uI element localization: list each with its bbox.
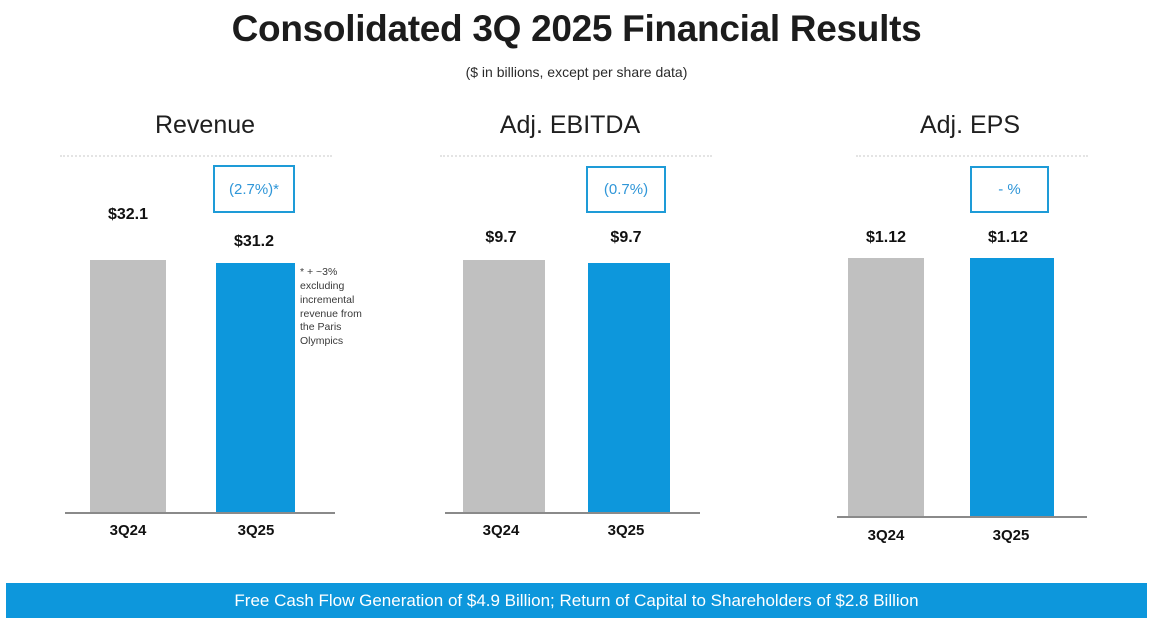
category-label-revenue-current: 3Q25: [212, 522, 300, 539]
bar-value-revenue-current: $31.2: [210, 233, 298, 251]
bar-value-ebitda-current: $9.7: [583, 229, 669, 247]
category-label-eps-current: 3Q25: [968, 527, 1054, 544]
axis-baseline-eps: [837, 516, 1087, 518]
category-label-eps-prior: 3Q24: [843, 527, 929, 544]
bar-value-eps-prior: $1.12: [843, 229, 929, 247]
bar-eps-current: [970, 258, 1054, 516]
bar-ebitda-current: [588, 263, 670, 512]
bar-eps-prior: [848, 258, 924, 516]
bar-value-ebitda-prior: $9.7: [458, 229, 544, 247]
category-label-revenue-prior: 3Q24: [84, 522, 172, 539]
chart-panel-ebitda: Adj. EBITDA (0.7%) $9.7 $9.7 3Q24 3Q25: [400, 105, 740, 560]
category-label-ebitda-current: 3Q25: [583, 522, 669, 539]
chart-footnote-revenue: * + ~3% excluding incremental revenue fr…: [300, 266, 372, 349]
plot-area-eps: $1.12 $1.12 3Q24 3Q25: [810, 105, 1130, 560]
page-title: Consolidated 3Q 2025 Financial Results: [0, 8, 1153, 50]
axis-baseline-revenue: [65, 512, 335, 514]
chart-panel-revenue: Revenue (2.7%)* $32.1 $31.2 3Q24 3Q25 * …: [20, 105, 390, 560]
bar-value-eps-current: $1.12: [965, 229, 1051, 247]
slide-root: Consolidated 3Q 2025 Financial Results (…: [0, 0, 1153, 631]
page-subtitle: ($ in billions, except per share data): [0, 64, 1153, 80]
highlight-banner: Free Cash Flow Generation of $4.9 Billio…: [6, 583, 1147, 618]
bar-ebitda-prior: [463, 260, 545, 512]
bar-revenue-prior: [90, 260, 166, 512]
plot-area-ebitda: $9.7 $9.7 3Q24 3Q25: [400, 105, 740, 560]
chart-panel-eps: Adj. EPS - % $1.12 $1.12 3Q24 3Q25: [810, 105, 1130, 560]
category-label-ebitda-prior: 3Q24: [458, 522, 544, 539]
highlight-banner-text: Free Cash Flow Generation of $4.9 Billio…: [234, 591, 918, 611]
axis-baseline-ebitda: [445, 512, 700, 514]
bar-value-revenue-prior: $32.1: [84, 206, 172, 224]
bar-revenue-current: [216, 263, 295, 512]
